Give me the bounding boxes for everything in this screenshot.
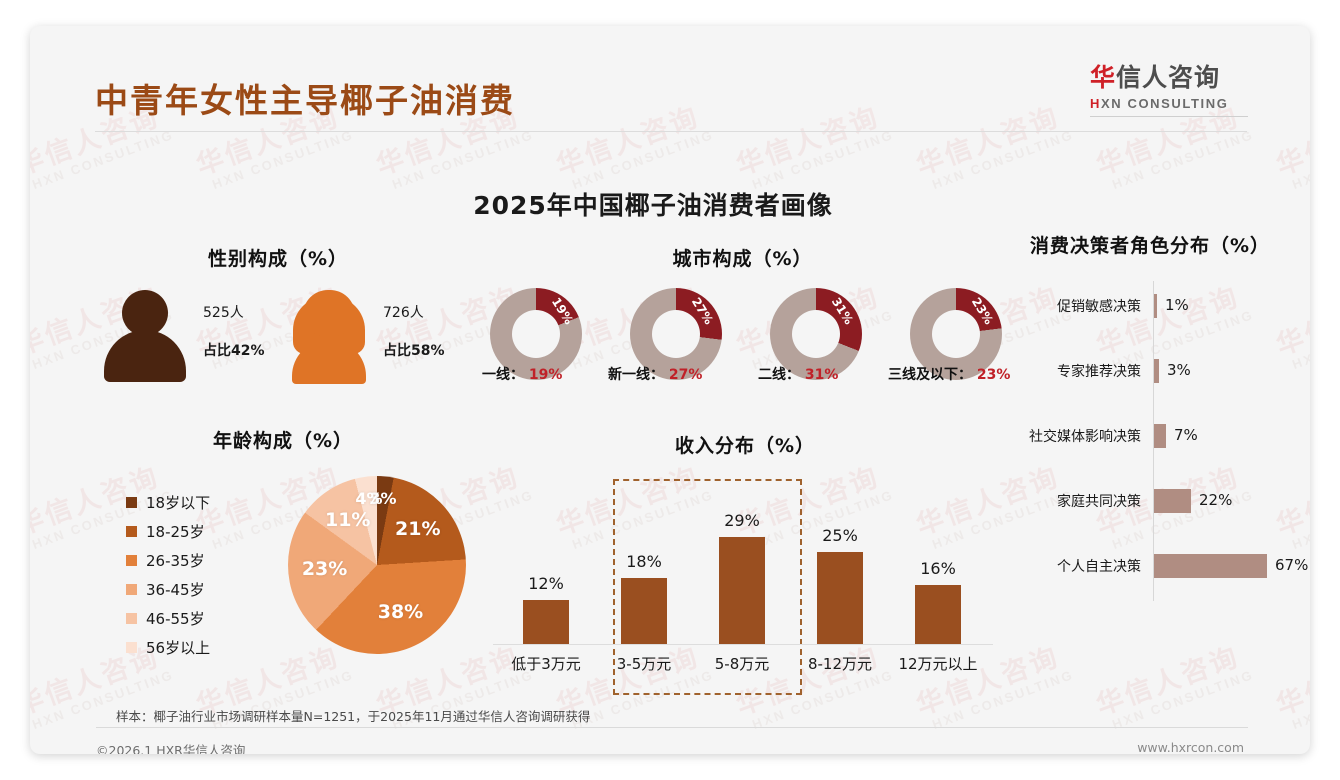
income-bar <box>817 552 863 644</box>
role-label: 家庭共同决策 <box>1057 491 1147 511</box>
age-legend-item[interactable]: 18-25岁 <box>126 517 210 546</box>
legend-swatch <box>126 584 137 595</box>
logo-chinese: 华信人咨询 <box>1090 64 1248 93</box>
gender-composition-chart: 性别构成（%） 525人 占比42% 726人 占比58% <box>98 244 458 394</box>
income-bar-column <box>797 552 883 644</box>
age-slice-label: 4% <box>347 489 391 508</box>
male-silhouette-icon <box>102 290 188 376</box>
age-slice-label: 21% <box>395 518 439 540</box>
income-bar-value: 16% <box>895 559 981 578</box>
logo-chinese-highlight: 华 <box>1090 63 1116 92</box>
role-bar <box>1154 489 1191 513</box>
role-value: 3% <box>1167 361 1191 379</box>
city-label-text: 三线及以下： <box>888 367 977 383</box>
age-slice-label: 23% <box>302 558 346 580</box>
slide-header: 中青年女性主导椰子油消费 华信人咨询 HXN CONSULTING <box>30 26 1310 134</box>
logo-english-highlight: H <box>1090 96 1101 111</box>
income-distribution-chart: 收入分布（%） 12%18%29%25%16% 低于3万元3-5万元5-8万元8… <box>485 431 1005 681</box>
role-row: 专家推荐决策3% <box>1005 358 1295 384</box>
donut-hole <box>792 310 840 358</box>
age-pie: 3%21%38%23%11%4% <box>288 476 466 654</box>
income-category-label: 5-8万元 <box>692 653 792 674</box>
city-label-value: 27% <box>669 367 703 383</box>
age-legend-item[interactable]: 46-55岁 <box>126 604 210 633</box>
legend-swatch <box>126 555 137 566</box>
role-bar <box>1154 359 1159 383</box>
city-donut-label-3: 二线： 31% <box>758 364 838 384</box>
age-composition-chart: 年龄构成（%） 18岁以下18-25岁26-35岁36-45岁46-55岁56岁… <box>98 426 468 676</box>
role-label: 个人自主决策 <box>1057 556 1147 576</box>
copyright-text: ©2026.1 HXR华信人咨询 <box>96 740 245 754</box>
income-bar <box>915 585 961 644</box>
income-bar-value: 12% <box>503 574 589 593</box>
sample-note: 样本：椰子油行业市场调研样本量N=1251，于2025年11月通过华信人咨询调研… <box>116 706 590 725</box>
city-section-title: 城市构成（%） <box>470 244 1015 271</box>
legend-label: 36-45岁 <box>146 579 205 600</box>
header-divider <box>95 131 1247 132</box>
legend-swatch <box>126 642 137 653</box>
website-url: www.hxrcon.com <box>1137 740 1244 754</box>
city-composition-chart: 城市构成（%） 19%一线： 19%27%新一线： 27%31%二线： 31%2… <box>470 244 1015 394</box>
role-label: 促销敏感决策 <box>1057 296 1147 316</box>
legend-swatch <box>126 526 137 537</box>
age-legend-item[interactable]: 26-35岁 <box>126 546 210 575</box>
role-row: 家庭共同决策22% <box>1005 488 1295 514</box>
income-bar <box>621 578 667 644</box>
income-bar-column <box>895 585 981 644</box>
role-label: 专家推荐决策 <box>1057 361 1147 381</box>
city-label-value: 19% <box>529 367 563 383</box>
logo-english: HXN CONSULTING <box>1090 96 1248 111</box>
role-label: 社交媒体影响决策 <box>1029 426 1147 446</box>
income-category-label: 12万元以上 <box>888 653 988 674</box>
role-row: 个人自主决策67% <box>1005 553 1295 579</box>
legend-swatch <box>126 613 137 624</box>
city-label-text: 一线： <box>482 367 529 383</box>
income-bar <box>719 537 765 644</box>
legend-swatch <box>126 497 137 508</box>
decision-roles-chart: 消费决策者角色分布（%） 促销敏感决策1%专家推荐决策3%社交媒体影响决策7%家… <box>1005 231 1295 611</box>
male-share: 占比42% <box>203 340 265 360</box>
age-legend-item[interactable]: 18岁以下 <box>126 488 210 517</box>
donut-hole <box>932 310 980 358</box>
legend-label: 56岁以上 <box>146 637 210 658</box>
city-donut-label-1: 一线： 19% <box>482 364 562 384</box>
age-section-title: 年龄构成（%） <box>98 426 468 453</box>
income-category-label: 3-5万元 <box>594 653 694 674</box>
income-bar-value: 25% <box>797 526 883 545</box>
role-bar <box>1154 294 1157 318</box>
role-value: 67% <box>1275 556 1308 574</box>
income-bar <box>523 600 569 644</box>
city-label-text: 新一线： <box>608 367 669 383</box>
main-chart-title: 2025年中国椰子油消费者画像 <box>30 186 1310 222</box>
legend-label: 18-25岁 <box>146 521 205 542</box>
gender-section-title: 性别构成（%） <box>98 244 458 271</box>
city-label-value: 31% <box>805 367 839 383</box>
age-legend-item[interactable]: 56岁以上 <box>126 633 210 662</box>
logo-underline <box>1090 116 1248 117</box>
income-category-label: 8-12万元 <box>790 653 890 674</box>
role-value: 22% <box>1199 491 1232 509</box>
female-count: 726人 <box>383 302 424 322</box>
page-title: 中青年女性主导椰子油消费 <box>95 74 515 122</box>
city-donut-label-4: 三线及以下： 23% <box>888 364 1010 384</box>
slide-canvas: 华信人咨询HXN CONSULTING华信人咨询HXN CONSULTING华信… <box>30 26 1310 754</box>
legend-label: 26-35岁 <box>146 550 205 571</box>
income-bar-value: 18% <box>601 552 687 571</box>
legend-label: 46-55岁 <box>146 608 205 629</box>
age-legend-item[interactable]: 36-45岁 <box>126 575 210 604</box>
legend-label: 18岁以下 <box>146 492 210 513</box>
income-bar-column <box>699 537 785 644</box>
role-bar <box>1154 424 1166 448</box>
income-section-title: 收入分布（%） <box>485 431 1005 458</box>
logo-chinese-rest: 信人咨询 <box>1116 63 1220 92</box>
income-bar-column <box>503 600 589 644</box>
donut-hole <box>652 310 700 358</box>
role-row: 社交媒体影响决策7% <box>1005 423 1295 449</box>
donut-hole <box>512 310 560 358</box>
role-value: 7% <box>1174 426 1198 444</box>
income-category-label: 低于3万元 <box>496 653 596 674</box>
watermark: 华信人咨询HXN CONSULTING <box>1270 632 1310 735</box>
main-chart-title-text: 2025年中国椰子油消费者画像 <box>473 191 833 220</box>
company-logo: 华信人咨询 HXN CONSULTING <box>1090 64 1248 117</box>
city-donut-label-2: 新一线： 27% <box>608 364 702 384</box>
footer-divider <box>96 727 1248 728</box>
income-bar-value: 29% <box>699 511 785 530</box>
role-value: 1% <box>1165 296 1189 314</box>
role-section-title: 消费决策者角色分布（%） <box>1000 231 1300 258</box>
male-count: 525人 <box>203 302 244 322</box>
watermark: 华信人咨询HXN CONSULTING <box>1090 632 1256 735</box>
logo-english-rest: XN CONSULTING <box>1101 96 1228 111</box>
female-silhouette-icon <box>286 290 372 376</box>
role-row: 促销敏感决策1% <box>1005 293 1295 319</box>
age-slice-label: 38% <box>378 601 422 623</box>
income-plot-area: 12%18%29%25%16% <box>485 485 1005 645</box>
female-share: 占比58% <box>383 340 445 360</box>
income-axis-line <box>493 644 993 645</box>
city-label-text: 二线： <box>758 367 805 383</box>
income-bar-column <box>601 578 687 644</box>
role-bar <box>1154 554 1267 578</box>
age-slice-label: 11% <box>325 509 369 531</box>
age-legend: 18岁以下18-25岁26-35岁36-45岁46-55岁56岁以上 <box>126 488 210 662</box>
